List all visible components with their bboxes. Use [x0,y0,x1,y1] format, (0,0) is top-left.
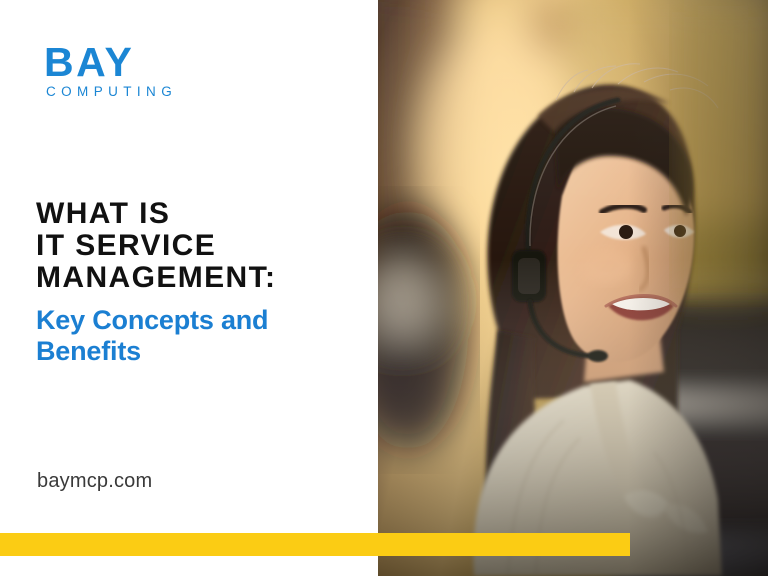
logo-tagline: COMPUTING [46,85,244,99]
hero-photo-illustration [378,0,768,576]
website-url: baymcp.com [37,470,152,493]
logo-wordmark: BAY [44,44,244,81]
subheadline-line-2: Benefits [36,336,366,367]
hero-photo [378,0,768,576]
page-title: WHAT IS IT SERVICE MANAGEMENT: [36,198,366,294]
accent-bar [0,533,630,556]
content-panel: BAY COMPUTING WHAT IS IT SERVICE MANAGEM… [0,0,378,576]
headline-line-3: MANAGEMENT: [36,262,366,294]
page-subtitle: Key Concepts and Benefits [36,305,366,367]
headline-line-2: IT SERVICE [36,230,366,262]
brand-logo: BAY COMPUTING [44,44,244,98]
slide-canvas: BAY COMPUTING WHAT IS IT SERVICE MANAGEM… [0,0,768,576]
headline-line-1: WHAT IS [36,198,366,230]
subheadline-line-1: Key Concepts and [36,305,366,336]
